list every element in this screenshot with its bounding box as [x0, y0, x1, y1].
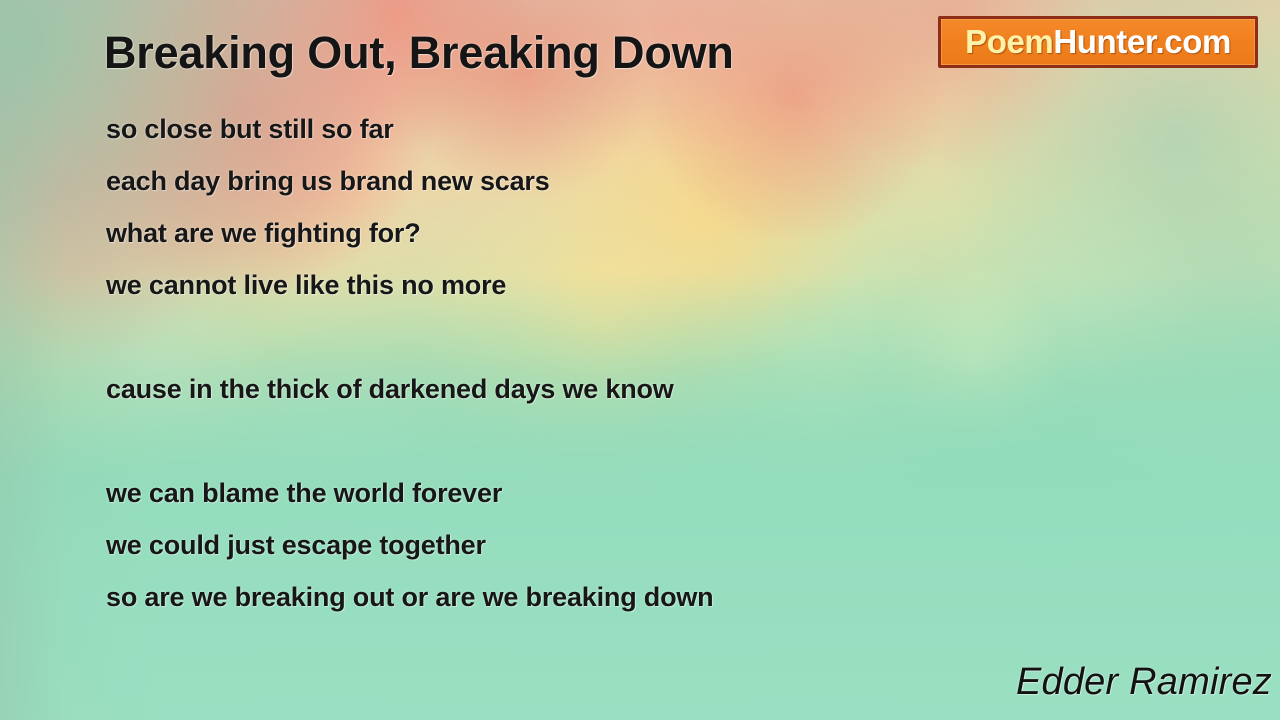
poem-line: we can blame the world forever	[106, 474, 906, 526]
poem-text-block: so close but still so far each day bring…	[106, 110, 906, 630]
poem-content: Breaking Out, Breaking Down PoemHunter.c…	[0, 0, 1280, 720]
poem-line: so close but still so far	[106, 110, 906, 162]
poem-line: we cannot live like this no more	[106, 266, 906, 318]
poem-line-blank	[106, 422, 906, 474]
poem-author: Edder Ramirez	[1016, 661, 1272, 704]
poem-line: so are we breaking out or are we breakin…	[106, 578, 906, 630]
poem-line-blank	[106, 318, 906, 370]
logo-text-hunter: Hunter.com	[1053, 23, 1231, 60]
logo-text: PoemHunter.com	[965, 23, 1231, 61]
poem-line: each day bring us brand new scars	[106, 162, 906, 214]
poem-line: we could just escape together	[106, 526, 906, 578]
logo-text-poem: Poem	[965, 23, 1053, 60]
poemhunter-logo[interactable]: PoemHunter.com	[938, 16, 1258, 68]
poem-line: cause in the thick of darkened days we k…	[106, 370, 906, 422]
poem-image-canvas: Breaking Out, Breaking Down PoemHunter.c…	[0, 0, 1280, 720]
poem-line: what are we fighting for?	[106, 214, 906, 266]
page-title: Breaking Out, Breaking Down	[104, 27, 734, 79]
